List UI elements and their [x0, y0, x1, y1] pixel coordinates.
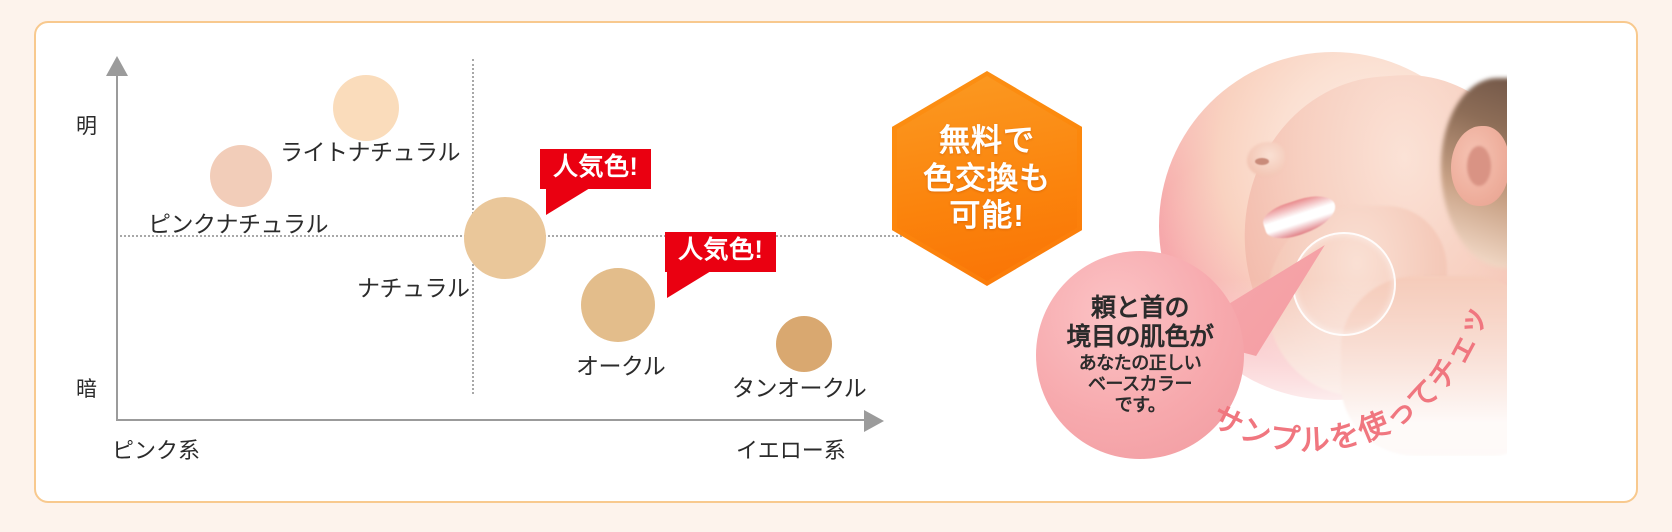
- shade-label-natural: ナチュラル: [357, 269, 470, 303]
- popular-badge-ochre: 人気色!: [665, 232, 776, 272]
- info-panel: 明 暗 ピンク系 イエロー系 ライトナチュラルピンクナチュラルナチュラルオークル…: [34, 21, 1638, 503]
- callout-line-1: 頼と首の: [1091, 294, 1189, 324]
- arrow-up-icon: [106, 56, 128, 76]
- callout-line-2: 境目の肌色が: [1066, 323, 1213, 353]
- x-axis-left-label: ピンク系: [112, 433, 200, 465]
- y-axis-top-label: 明: [76, 110, 97, 140]
- y-axis-bottom-label: 暗: [76, 373, 97, 403]
- arrow-right-icon: [864, 410, 884, 432]
- hexagon-line-1: 無料で: [939, 122, 1035, 160]
- popular-badge-natural: 人気色!: [540, 149, 651, 189]
- hexagon-line-2: 色交換も: [923, 160, 1051, 198]
- popular-badge-tail: [667, 271, 711, 298]
- sample-check-caption: サンプルを使ってチェック!: [1196, 293, 1546, 523]
- callout-line-3: あなたの正しい: [1079, 353, 1202, 374]
- shade-dot-light-natural: [333, 75, 399, 141]
- shade-dot-natural: [464, 197, 546, 279]
- shade-dot-tan-ochre: [776, 316, 832, 372]
- shade-label-ochre: オークル: [576, 347, 665, 381]
- sample-check-caption-text: サンプルを使ってチェック!: [1196, 293, 1494, 458]
- shade-dot-ochre: [581, 268, 655, 342]
- shade-label-tan-ochre: タンオークル: [732, 369, 866, 403]
- callout-line-5: です。: [1115, 395, 1166, 416]
- x-axis-right-label: イエロー系: [736, 433, 846, 465]
- hexagon-line-3: 可能!: [949, 197, 1024, 235]
- popular-badge-label: 人気色!: [665, 232, 776, 272]
- shade-dot-pink-natural: [210, 145, 272, 207]
- x-axis-line: [116, 419, 866, 421]
- popular-badge-label: 人気色!: [540, 149, 651, 189]
- shade-label-light-natural: ライトナチュラル: [280, 133, 460, 167]
- foundation-shade-chart: 明 暗 ピンク系 イエロー系 ライトナチュラルピンクナチュラルナチュラルオークル…: [36, 23, 936, 505]
- y-axis-line: [116, 70, 118, 420]
- shade-label-pink-natural: ピンクナチュラル: [148, 205, 328, 239]
- callout-line-4: ベースカラー: [1088, 374, 1192, 395]
- page-root: 明 暗 ピンク系 イエロー系 ライトナチュラルピンクナチュラルナチュラルオークル…: [0, 0, 1672, 532]
- popular-badge-tail: [546, 188, 590, 215]
